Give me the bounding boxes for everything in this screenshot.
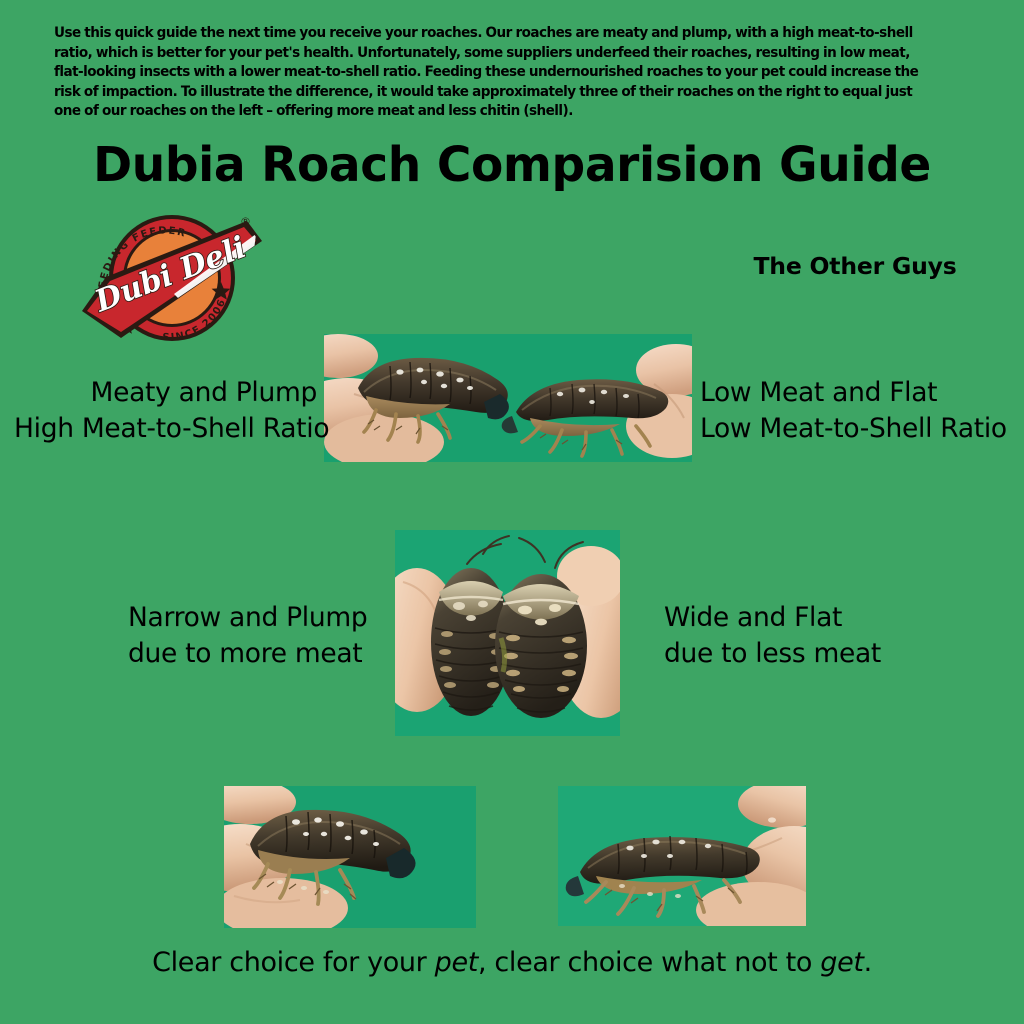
footer-caption-italic-get: get bbox=[820, 947, 863, 978]
footer-caption-part-2: , clear choice what not to bbox=[478, 947, 820, 978]
caption-row-2-right: Wide and Flat due to less meat bbox=[664, 600, 914, 672]
logo-registered-icon: ® bbox=[240, 215, 251, 228]
other-guys-line-2: Guys bbox=[892, 252, 957, 280]
caption-row-1-left-line-2: High Meat-to-Shell Ratio bbox=[14, 411, 317, 447]
roach-top-right bbox=[495, 574, 587, 718]
other-guys-line-1: The Other bbox=[753, 252, 884, 280]
photo-row-2-top-down bbox=[395, 530, 620, 736]
intro-paragraph: Use this quick guide the next time you r… bbox=[54, 24, 936, 122]
infographic-poster: Use this quick guide the next time you r… bbox=[0, 0, 1024, 1024]
page-title: Dubia Roach Comparision Guide bbox=[10, 136, 1014, 194]
photo-row-3-left bbox=[224, 786, 476, 928]
caption-row-2-right-line-1: Wide and Flat bbox=[664, 600, 914, 636]
caption-row-1-right-line-2: Low Meat-to-Shell Ratio bbox=[700, 411, 1010, 447]
caption-row-2-left: Narrow and Plump due to more meat bbox=[128, 600, 378, 672]
photo-row-1-side-profiles bbox=[324, 334, 692, 462]
footer-caption-italic-pet: pet bbox=[435, 947, 478, 978]
column-header-other-guys: The Other Guys bbox=[735, 250, 975, 283]
caption-row-2-left-line-2: due to more meat bbox=[128, 636, 378, 672]
caption-row-1-right: Low Meat and Flat Low Meat-to-Shell Rati… bbox=[700, 375, 1010, 447]
footer-caption: Clear choice for your pet, clear choice … bbox=[0, 946, 1024, 980]
caption-row-2-left-line-1: Narrow and Plump bbox=[128, 600, 378, 636]
caption-row-2-right-line-2: due to less meat bbox=[664, 636, 914, 672]
dubi-deli-logo: BREEDING FEEDERS SINCE 2006 Dubi Deli bbox=[78, 208, 266, 348]
caption-row-1-left: Meaty and Plump High Meat-to-Shell Ratio bbox=[14, 375, 317, 447]
caption-row-1-right-line-1: Low Meat and Flat bbox=[700, 375, 1010, 411]
footer-caption-part-1: Clear choice for your bbox=[152, 947, 435, 978]
footer-caption-part-3: . bbox=[864, 947, 872, 978]
photo-row-3-right bbox=[558, 786, 806, 926]
caption-row-1-left-line-1: Meaty and Plump bbox=[14, 375, 317, 411]
